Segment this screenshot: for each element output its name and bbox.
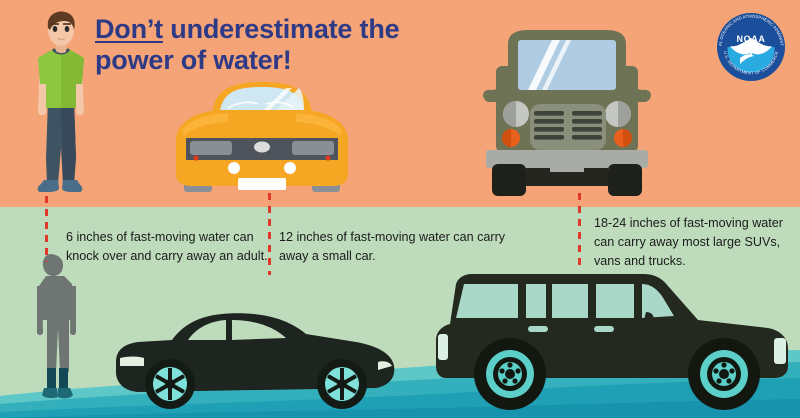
depth-marker-line-1 bbox=[45, 196, 48, 262]
noaa-center-label: NOAA bbox=[737, 34, 766, 44]
title-underlined-word: Don’t bbox=[95, 14, 163, 44]
infographic-root: Don’t underestimate the power of water! … bbox=[0, 0, 800, 418]
caption-large-vehicles: 18-24 inches of fast-moving water can ca… bbox=[594, 214, 794, 271]
standing-man-illustration bbox=[18, 8, 104, 200]
silhouette-person-in-water bbox=[22, 252, 92, 402]
title-line2: power of water! bbox=[95, 45, 292, 75]
orange-sports-car-front-view bbox=[168, 78, 356, 200]
caption-small-car: 12 inches of fast-moving water can carry… bbox=[279, 228, 524, 266]
page-title: Don’t underestimate the power of water! bbox=[95, 14, 435, 76]
title-line1-rest: underestimate the bbox=[163, 14, 399, 44]
silhouette-sedan-in-water bbox=[110, 300, 400, 412]
green-pickup-truck-front-view bbox=[472, 18, 662, 200]
depth-marker-line-3 bbox=[578, 193, 581, 265]
caption-adult: 6 inches of fast-moving water can knock … bbox=[66, 228, 271, 266]
noaa-seal-logo[interactable]: NOAA NATIONAL OCEANIC AND ATMOSPHERIC AD… bbox=[714, 10, 788, 84]
silhouette-suv-in-water bbox=[422, 262, 800, 412]
